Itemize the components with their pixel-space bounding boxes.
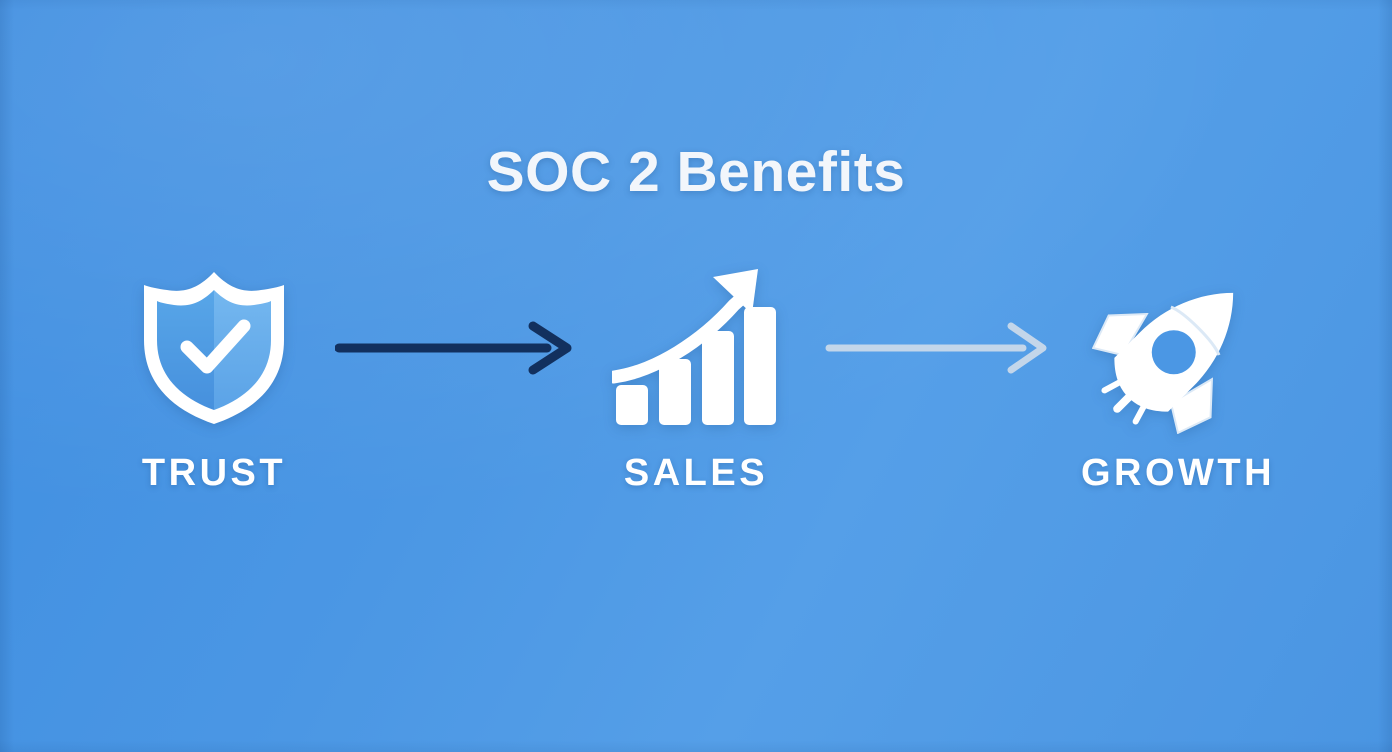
chart-bar-4 — [744, 307, 776, 425]
sales-icon-wrap — [612, 262, 780, 434]
page-title: SOC 2 Benefits — [0, 141, 1392, 204]
rocket-exhaust-center — [1117, 393, 1133, 409]
flow-step-sales: SALES — [580, 262, 812, 495]
flow-step-label-sales: SALES — [624, 452, 768, 495]
trust-icon-wrap — [139, 262, 289, 434]
infographic-canvas: SOC 2 Benefits — [0, 0, 1392, 752]
flow-step-trust: TRUST — [98, 262, 330, 495]
shield-check-icon — [139, 268, 289, 428]
flow-step-label-growth: GROWTH — [1081, 452, 1275, 495]
arrow-right-icon — [825, 318, 1050, 378]
chart-bar-1 — [616, 385, 648, 425]
growth-icon-wrap — [1092, 262, 1264, 434]
connector-sales-to-growth — [812, 262, 1062, 434]
chart-bar-2 — [659, 359, 691, 425]
bar-chart-growth-icon — [612, 267, 780, 429]
arrow-right-icon — [335, 318, 575, 378]
rocket-icon — [1092, 262, 1264, 434]
chart-bar-3 — [702, 331, 734, 425]
process-flow-row: TRUST SALE — [0, 262, 1392, 512]
flow-step-growth: GROWTH — [1062, 262, 1294, 495]
connector-trust-to-sales — [330, 262, 580, 434]
flow-step-label-trust: TRUST — [142, 452, 286, 495]
